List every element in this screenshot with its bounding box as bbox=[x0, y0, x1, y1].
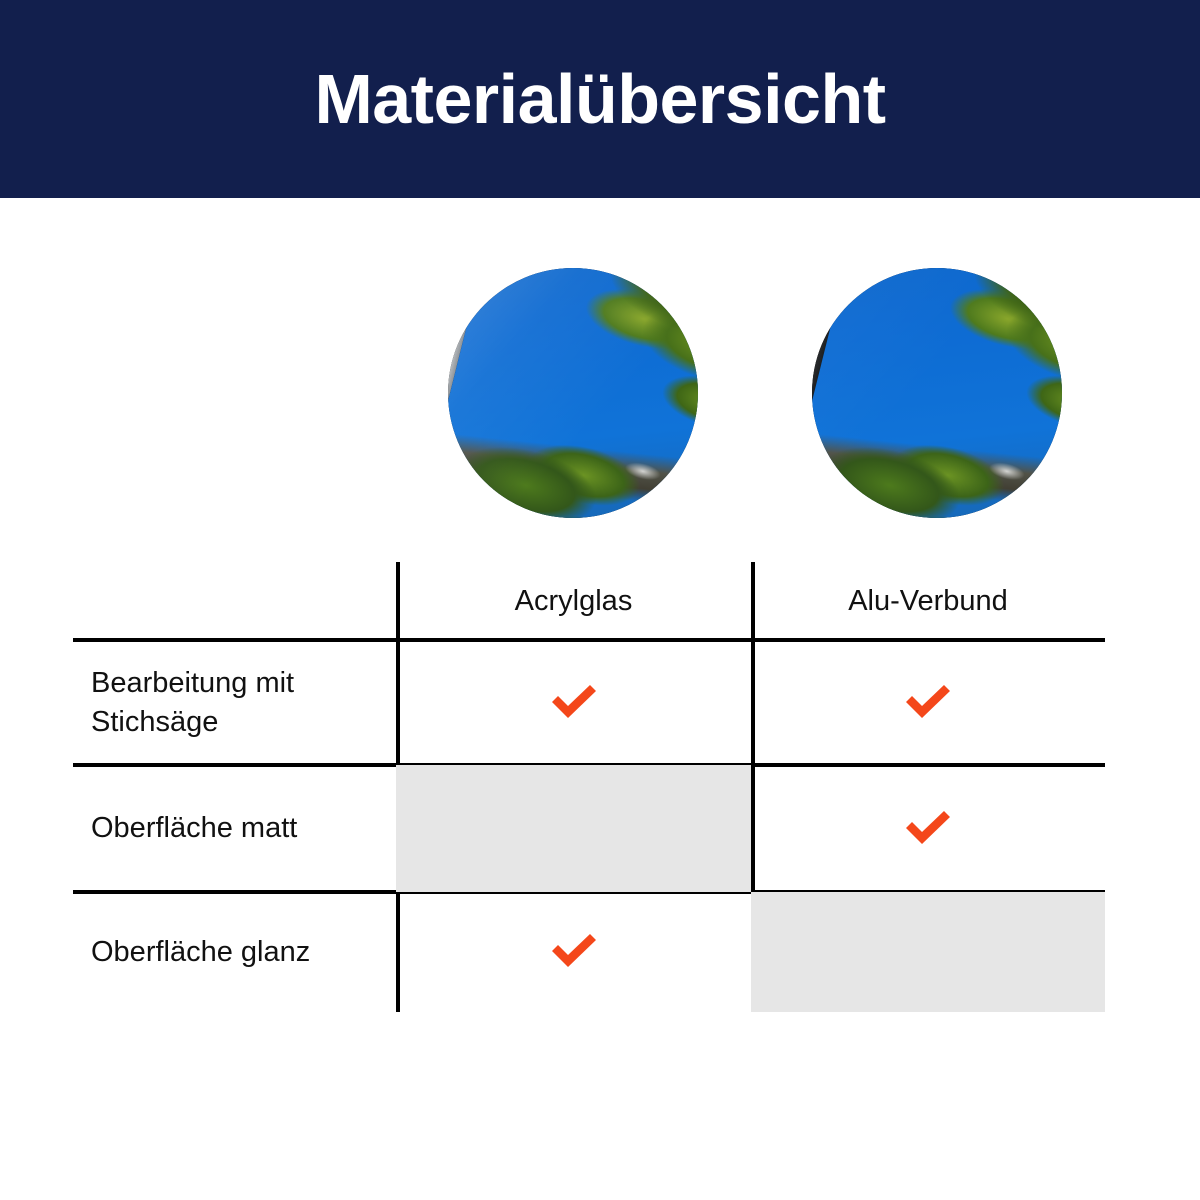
column-header-alu-verbund: Alu-Verbund bbox=[751, 562, 1105, 640]
check-mark-icon bbox=[547, 930, 601, 974]
page-header: Materialübersicht bbox=[0, 0, 1200, 198]
check-mark-icon bbox=[901, 681, 955, 725]
row-label-line-1: Bearbeitung mit bbox=[91, 667, 294, 699]
material-samples bbox=[0, 268, 1200, 520]
material-overview-page: Materialübersicht bbox=[0, 0, 1200, 1200]
palm-tree-photo bbox=[448, 268, 698, 518]
column-header-acrylglas: Acrylglas bbox=[396, 562, 751, 640]
material-comparison-table: Acrylglas Alu-Verbund Bearbeitung mit St… bbox=[73, 562, 1105, 1012]
row-label-oberflaeche-matt: Oberfläche matt bbox=[73, 765, 396, 892]
cell-glanz-acrylglas bbox=[396, 892, 751, 1012]
cell-matt-alu-verbund bbox=[751, 765, 1105, 892]
alu-verbund-panel bbox=[812, 268, 1062, 518]
row-label-text: Bearbeitung mit Stichsäge bbox=[91, 664, 294, 741]
table-row: Oberfläche glanz bbox=[73, 892, 1105, 1012]
cell-bearbeitung-alu-verbund bbox=[751, 640, 1105, 765]
table-row: Bearbeitung mit Stichsäge bbox=[73, 640, 1105, 765]
row-label-bearbeitung-mit-stichsaege: Bearbeitung mit Stichsäge bbox=[73, 640, 396, 765]
table-row: Oberfläche matt bbox=[73, 765, 1105, 892]
cell-matt-acrylglas-unavailable bbox=[396, 765, 751, 892]
alu-verbund-sample-inner bbox=[812, 268, 1062, 518]
table-corner-cell bbox=[73, 562, 396, 640]
row-label-line-2: Stichsäge bbox=[91, 706, 218, 738]
check-mark-icon bbox=[901, 807, 955, 851]
acrylglas-panel bbox=[448, 268, 698, 518]
page-title: Materialübersicht bbox=[314, 64, 885, 134]
table-header-row: Acrylglas Alu-Verbund bbox=[73, 562, 1105, 640]
row-label-oberflaeche-glanz: Oberfläche glanz bbox=[73, 892, 396, 1012]
acrylglas-sample-inner bbox=[448, 268, 698, 518]
check-mark-icon bbox=[547, 681, 601, 725]
cell-bearbeitung-acrylglas bbox=[396, 640, 751, 765]
cell-glanz-alu-verbund-unavailable bbox=[751, 892, 1105, 1012]
alu-verbund-sample-image bbox=[812, 268, 1062, 518]
palm-tree-photo bbox=[812, 268, 1062, 518]
acrylglas-sample-image bbox=[448, 268, 698, 518]
